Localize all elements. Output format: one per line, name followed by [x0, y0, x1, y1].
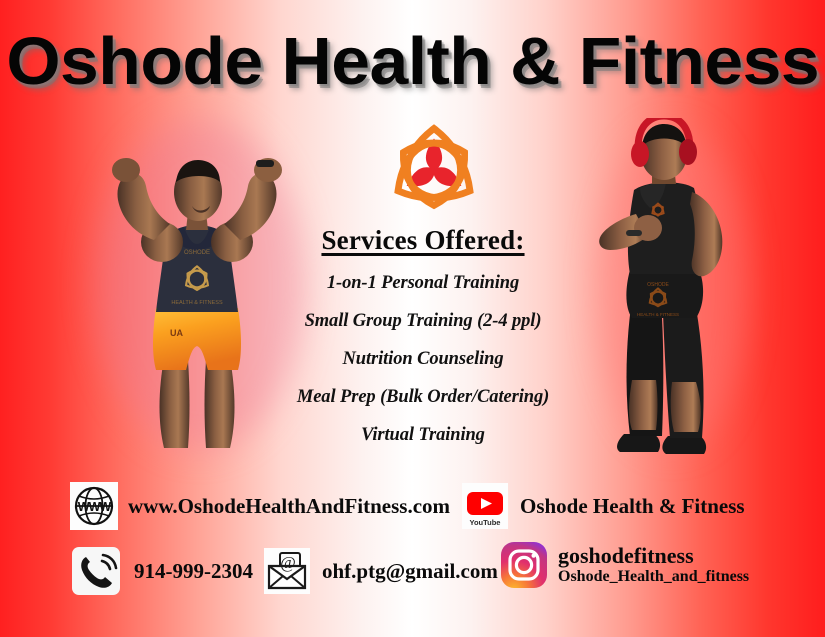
- triquetra-logo-icon: [382, 116, 486, 220]
- service-item: Meal Prep (Bulk Order/Catering): [268, 387, 578, 408]
- youtube-channel-name: Oshode Health & Fitness: [520, 494, 745, 519]
- website-url: www.OshodeHealthAndFitness.com: [128, 494, 450, 519]
- svg-text:OSHODE: OSHODE: [647, 282, 669, 288]
- contact-website[interactable]: WWW www.OshodeHealthAndFitness.com: [70, 482, 450, 530]
- bodybuilder-posing-right-figure: OSHODE HEALTH & FITNESS: [596, 118, 744, 463]
- instagram-handle-secondary: Oshode_Health_and_fitness: [558, 569, 749, 585]
- service-item: 1-on-1 Personal Training: [268, 273, 578, 294]
- svg-text:WWW: WWW: [78, 500, 112, 514]
- svg-text:HEALTH & FITNESS: HEALTH & FITNESS: [171, 300, 223, 306]
- youtube-wordmark: YouTube: [470, 518, 501, 527]
- youtube-icon: YouTube: [462, 483, 508, 529]
- service-item: Virtual Training: [268, 425, 578, 446]
- page-title: Oshode Health & Fitness: [6, 28, 819, 96]
- phone-icon: [72, 547, 120, 595]
- globe-www-icon: WWW: [70, 482, 118, 530]
- svg-text:@: @: [280, 553, 296, 572]
- instagram-handle-primary: goshodefitness: [558, 545, 749, 567]
- phone-number: 914-999-2304: [134, 559, 253, 584]
- service-item: Nutrition Counseling: [268, 349, 578, 370]
- contact-phone[interactable]: 914-999-2304: [72, 547, 253, 595]
- flyer-title-area: Oshode Health & Fitness: [0, 28, 825, 96]
- email-address: ohf.ptg@gmail.com: [322, 559, 498, 584]
- svg-text:UA: UA: [170, 328, 183, 338]
- contact-email[interactable]: @ ohf.ptg@gmail.com: [264, 548, 498, 594]
- contact-instagram[interactable]: goshodefitness Oshode_Health_and_fitness: [500, 541, 749, 589]
- instagram-icon: [500, 541, 548, 589]
- svg-text:OSHODE: OSHODE: [184, 250, 210, 256]
- svg-text:HEALTH & FITNESS: HEALTH & FITNESS: [637, 312, 679, 317]
- contact-youtube[interactable]: YouTube Oshode Health & Fitness: [462, 483, 745, 529]
- service-item: Small Group Training (2-4 ppl): [268, 311, 578, 332]
- instagram-handles: goshodefitness Oshode_Health_and_fitness: [558, 545, 749, 586]
- services-heading: Services Offered:: [268, 225, 578, 256]
- fitness-flyer: Oshode Health & Fitness: [0, 0, 825, 637]
- services-section: Services Offered: 1-on-1 Personal Traini…: [268, 225, 578, 446]
- email-envelope-icon: @: [264, 548, 310, 594]
